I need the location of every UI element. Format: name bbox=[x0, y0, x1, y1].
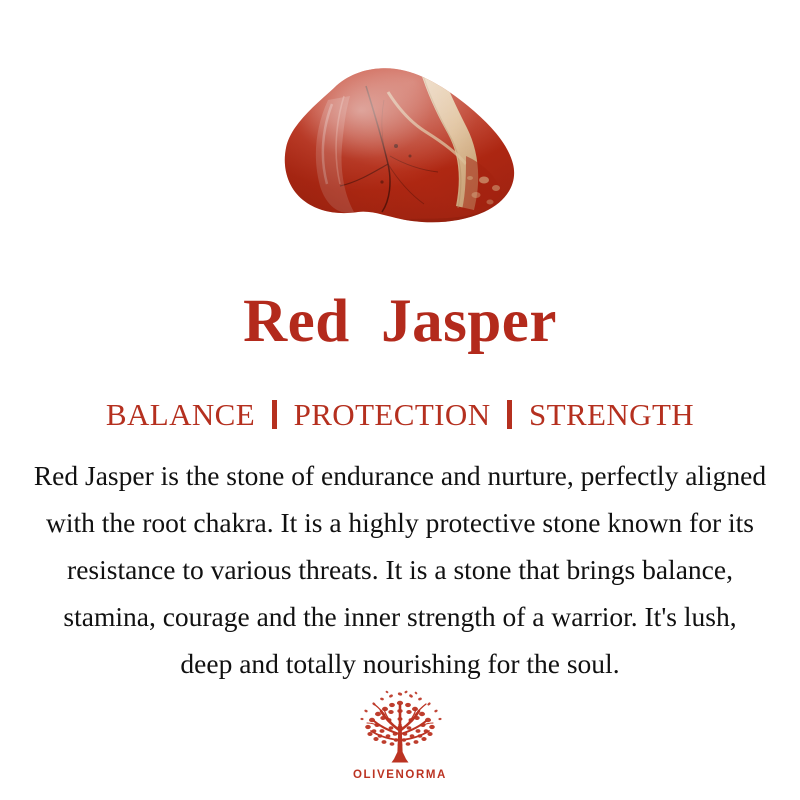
red-jasper-stone-image bbox=[270, 60, 530, 240]
description-line: Red Jasper is the stone of endurance and… bbox=[12, 452, 788, 499]
tree-of-life-icon bbox=[345, 690, 455, 768]
keyword-balance: BALANCE bbox=[106, 397, 255, 432]
red-jasper-infographic: Red Jasper BALANCE PROTECTION STRENGTH R… bbox=[0, 0, 800, 800]
description-text: Red Jasper is the stone of endurance and… bbox=[12, 452, 788, 687]
page-title: Red Jasper bbox=[0, 291, 800, 352]
description-line: stamina, courage and the inner strength … bbox=[12, 593, 788, 640]
keyword-line: BALANCE PROTECTION STRENGTH bbox=[0, 398, 800, 432]
brand-logo: OLIVENORMA bbox=[345, 690, 455, 790]
keyword-protection: PROTECTION bbox=[294, 397, 491, 432]
brand-name: OLIVENORMA bbox=[345, 769, 455, 781]
description-line: with the root chakra. It is a highly pro… bbox=[12, 499, 788, 546]
keyword-separator-1 bbox=[272, 400, 277, 429]
description-line: resistance to various threats. It is a s… bbox=[12, 546, 788, 593]
description-line: deep and totally nourishing for the soul… bbox=[12, 640, 788, 687]
keyword-separator-2 bbox=[507, 400, 512, 429]
keyword-strength: STRENGTH bbox=[529, 397, 694, 432]
